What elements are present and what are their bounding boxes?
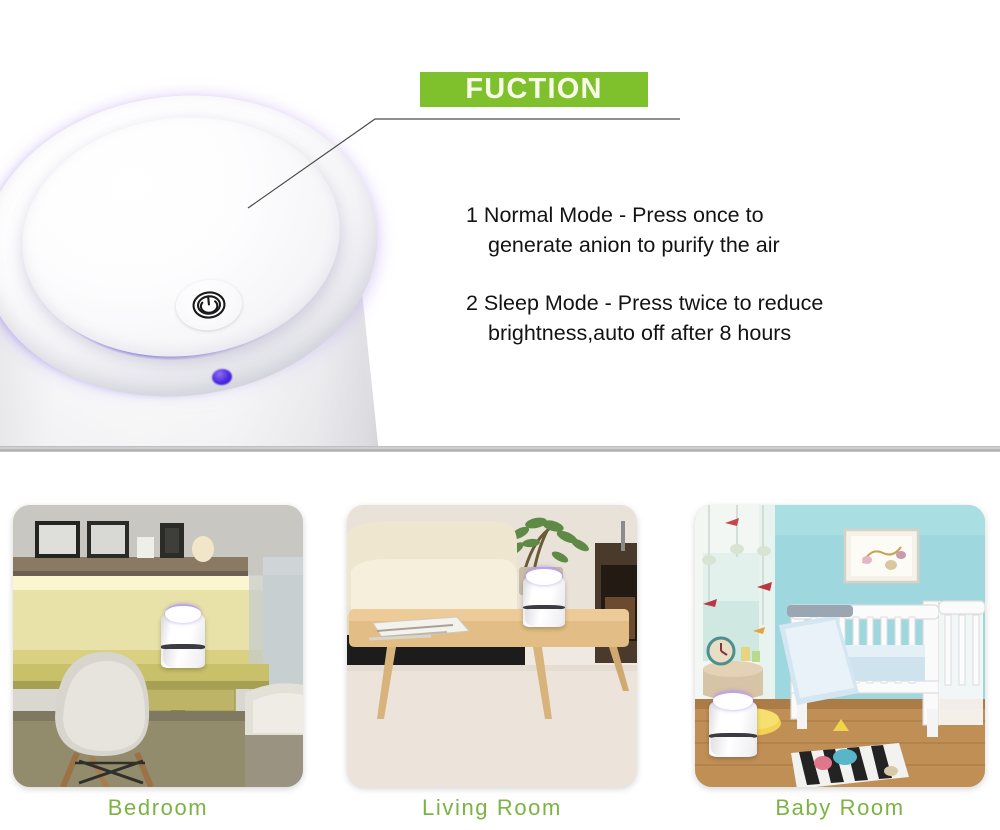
section-divider xyxy=(0,446,1000,452)
mini-purifier-base xyxy=(711,737,755,757)
mini-purifier-living-room xyxy=(523,567,565,627)
mode-item-sleep: 2 Sleep Mode - Press twice to reduce bri… xyxy=(466,288,886,348)
mini-purifier-base xyxy=(525,609,564,627)
mode-item-normal: 1 Normal Mode - Press once to generate a… xyxy=(466,200,886,260)
scene-caption-living-room: Living Room xyxy=(347,795,637,821)
mini-purifier-base xyxy=(163,649,203,668)
mode-sleep-line-1: 2 Sleep Mode - Press twice to reduce xyxy=(466,288,886,318)
function-banner-label: FUCTION xyxy=(465,75,602,104)
scene-caption-baby-room: Baby Room xyxy=(695,795,985,821)
scene-card-living-room[interactable] xyxy=(347,505,637,787)
air-purifier-device xyxy=(0,88,440,448)
mode-normal-line-2: generate anion to purify the air xyxy=(466,230,886,260)
hero-section: FUCTION 1 Normal Mode - Press once to ge… xyxy=(0,0,1000,452)
power-icon xyxy=(191,289,228,320)
living-room-illustration xyxy=(347,505,637,787)
scene-gallery: Bedroom xyxy=(0,460,1000,830)
mini-purifier-top xyxy=(165,604,202,623)
scene-card-baby-room[interactable] xyxy=(695,505,985,787)
bedroom-illustration xyxy=(13,505,303,787)
mode-sleep-line-2: brightness,auto off after 8 hours xyxy=(466,318,886,348)
scene-card-bedroom[interactable] xyxy=(13,505,303,787)
scene-caption-bedroom: Bedroom xyxy=(13,795,303,821)
mode-list: 1 Normal Mode - Press once to generate a… xyxy=(466,200,886,376)
mini-purifier-top xyxy=(526,567,561,585)
mini-purifier-baby-room xyxy=(709,691,757,757)
function-banner: FUCTION xyxy=(420,72,648,107)
mini-purifier-bedroom xyxy=(161,604,205,668)
mode-normal-line-1: 1 Normal Mode - Press once to xyxy=(466,200,886,230)
